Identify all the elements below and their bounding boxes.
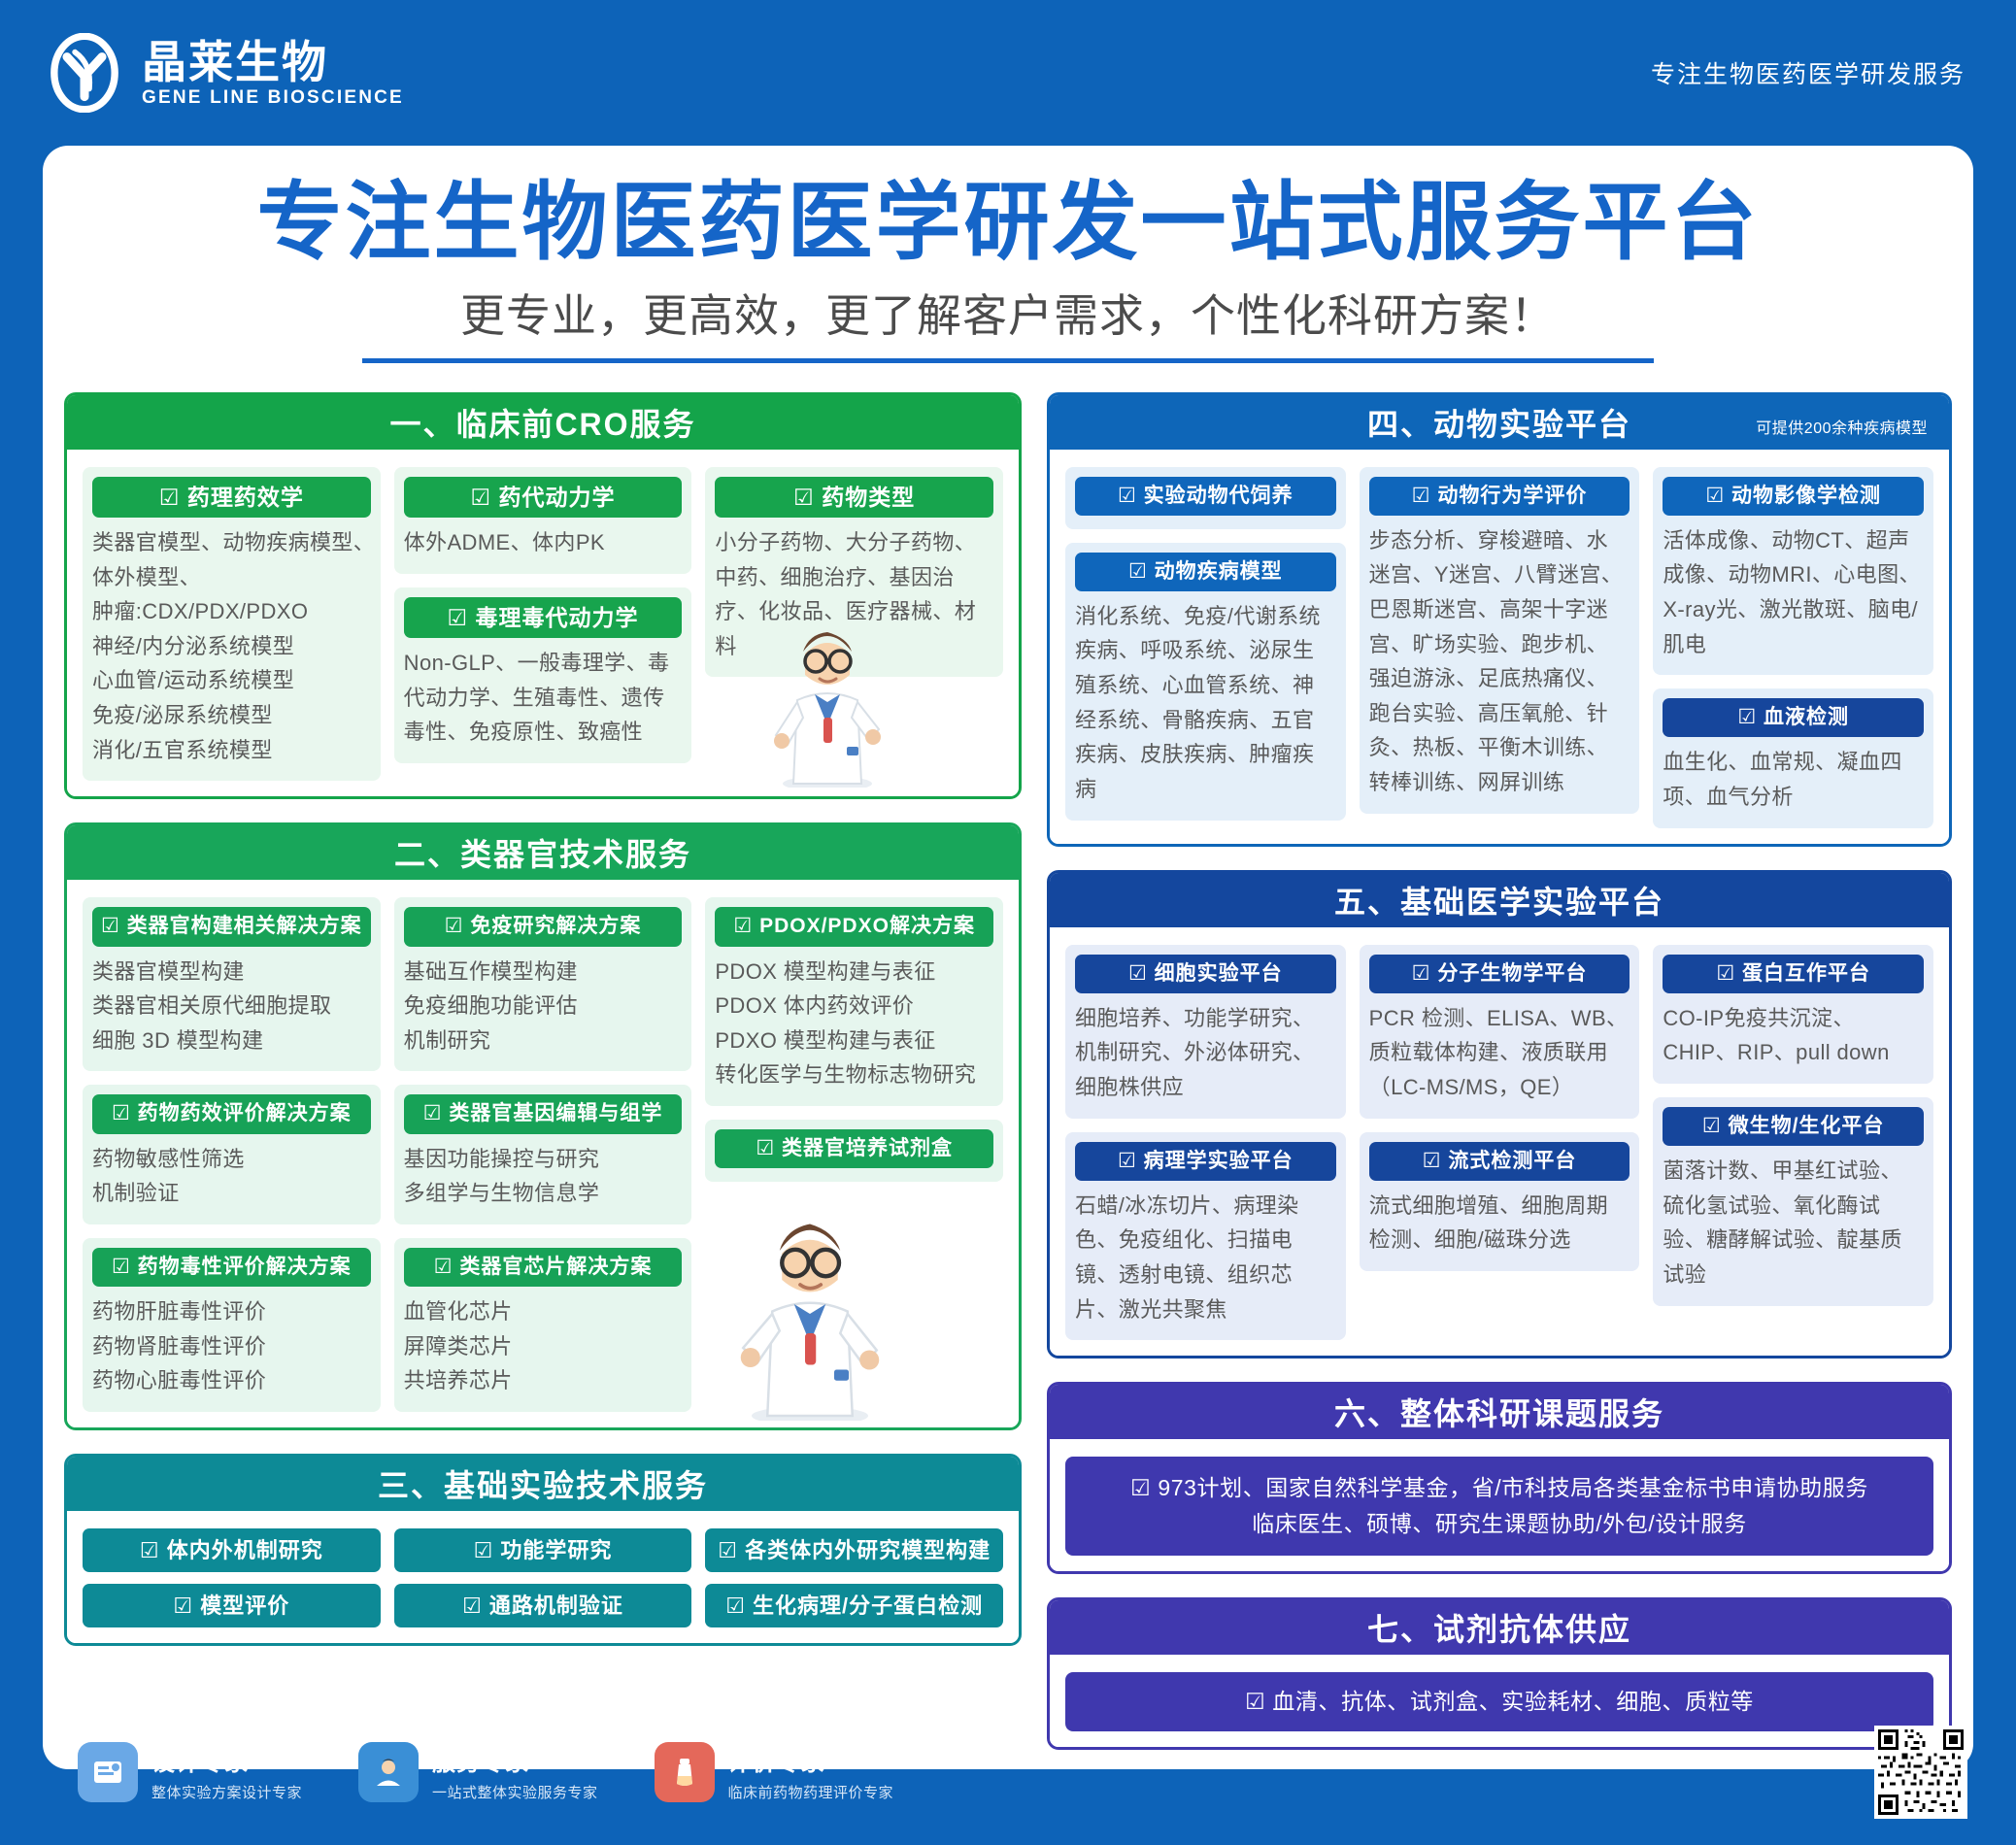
card-molecular-platform-pill: ☑ 分子生物学平台 — [1369, 955, 1630, 993]
card-pathology-platform-pill: ☑ 病理学实验平台 — [1075, 1142, 1336, 1181]
card-cell-platform-text: 细胞培养、功能学研究、机制研究、外泌体研究、细胞株供应 — [1075, 1001, 1336, 1105]
card-blood-test-pill: ☑ 血液检测 — [1663, 698, 1924, 737]
card-pharmacology[interactable]: ☑ 药理药效学 类器官模型、动物疾病模型、 体外模型、 肿瘤:CDX/PDX/P… — [83, 467, 381, 782]
card-protein-interaction-platform[interactable]: ☑ 蛋白互作平台 CO-IP免疫共沉淀、CHIP、RIP、pull down — [1653, 945, 1933, 1084]
section-4-body: ☑ 实验动物代饲养 ☑ 动物疾病模型 消化系统、免疫/代谢系统疾病、呼吸系统、泌… — [1050, 450, 1949, 844]
brand-name-cn: 晶莱生物 — [142, 40, 404, 84]
section-2-title: 二、类器官技术服务 — [394, 830, 691, 875]
card-toxicokinetics-pill: ☑ 毒理毒代动力学 — [404, 597, 683, 638]
evaluation-expert-icon — [655, 1742, 715, 1802]
card-pharmacokinetics-pill: ☑ 药代动力学 — [404, 477, 683, 518]
card-cell-platform[interactable]: ☑ 细胞实验平台 细胞培养、功能学研究、机制研究、外泌体研究、细胞株供应 — [1065, 945, 1346, 1119]
pill-functional-research[interactable]: ☑ 功能学研究 — [394, 1528, 692, 1572]
card-molecular-platform-text: PCR 检测、ELISA、WB、质粒载体构建、液质联用（LC-MS/MS，QE） — [1369, 1001, 1630, 1105]
card-immunology-solution[interactable]: ☑ 免疫研究解决方案 基础互作模型构建 免疫细胞功能评估 机制研究 — [394, 897, 692, 1071]
card-toxicity-evaluation-lines: 药物肝脏毒性评价 药物肾脏毒性评价 药物心脏毒性评价 — [92, 1294, 371, 1398]
expert-list: 设计专家 整体实验方案设计专家 服务专家 一站式整体实验服务专家 — [78, 1742, 893, 1802]
section-1-header: 一、临床前CRO服务 — [67, 395, 1019, 450]
service-expert-icon — [358, 1742, 419, 1802]
card-drug-types-text: 小分子药物、大分子药物、中药、细胞治疗、基因治疗、化妆品、医疗器械、材料 — [715, 525, 993, 664]
section-3-header: 三、基础实验技术服务 — [67, 1457, 1019, 1511]
card-pathology-platform[interactable]: ☑ 病理学实验平台 石蜡/冰冻切片、病理染色、免疫组化、扫描电镜、透射电镜、组织… — [1065, 1132, 1346, 1341]
card-drug-types-pill: ☑ 药物类型 — [715, 477, 993, 518]
card-efficacy-evaluation-lines: 药物敏感性筛选 机制验证 — [92, 1142, 371, 1211]
card-animal-housing[interactable]: ☑ 实验动物代饲养 — [1065, 467, 1346, 529]
section-5-title: 五、基础医学实验平台 — [1334, 878, 1664, 922]
section-2-header: 二、类器官技术服务 — [67, 825, 1019, 880]
section-2-body: ☑ 类器官构建相关解决方案 类器官模型构建 类器官相关原代细胞提取 细胞 3D … — [67, 880, 1019, 1426]
content-columns: 一、临床前CRO服务 ☑ 药理药效学 类器官模型、动物疾病模型、 体外模型、 — [43, 363, 1973, 1750]
card-organ-chip-pill: ☑ 类器官芯片解决方案 — [404, 1248, 683, 1287]
qr-code-icon[interactable] — [1874, 1726, 1967, 1819]
card-toxicokinetics-text: Non-GLP、一般毒理学、毒代动力学、生殖毒性、遗传毒性、免疫原性、致癌性 — [404, 646, 683, 750]
card-organoid-construction-lines: 类器官模型构建 类器官相关原代细胞提取 细胞 3D 模型构建 — [92, 955, 371, 1058]
card-animal-disease-model-text: 消化系统、免疫/代谢系统疾病、呼吸系统、泌尿生殖系统、心血管系统、神经系统、骨骼… — [1075, 599, 1336, 807]
card-animal-housing-pill: ☑ 实验动物代饲养 — [1075, 477, 1336, 516]
section-5-header: 五、基础医学实验平台 — [1050, 873, 1949, 927]
expert-service-title: 服务专家 — [432, 1743, 598, 1777]
card-animal-imaging[interactable]: ☑ 动物影像学检测 活体成像、动物CT、超声成像、动物MRI、心电图、X-ray… — [1653, 467, 1933, 676]
card-pdox-pdxo-pill: ☑ PDOX/PDXO解决方案 — [715, 907, 993, 946]
section-6-header: 六、整体科研课题服务 — [1050, 1385, 1949, 1439]
card-pharmacology-pill: ☑ 药理药效学 — [92, 477, 371, 518]
card-pdox-pdxo-lines: PDOX 模型构建与表征 PDOX 体内药效评价 PDXO 模型构建与表征 转化… — [715, 955, 993, 1093]
card-toxicity-evaluation[interactable]: ☑ 药物毒性评价解决方案 药物肝脏毒性评价 药物肾脏毒性评价 药物心脏毒性评价 — [83, 1238, 381, 1412]
card-organoid-construction[interactable]: ☑ 类器官构建相关解决方案 类器官模型构建 类器官相关原代细胞提取 细胞 3D … — [83, 897, 381, 1071]
section-7-title: 七、试剂抗体供应 — [1367, 1605, 1631, 1650]
card-pharmacology-lines: 类器官模型、动物疾病模型、 体外模型、 肿瘤:CDX/PDX/PDXO 神经/内… — [92, 525, 371, 767]
card-animal-behavior-text: 步态分析、穿梭避暗、水迷宫、Y迷宫、八臂迷宫、巴恩斯迷宫、高架十字迷宫、旷场实验… — [1369, 523, 1630, 800]
card-blood-test[interactable]: ☑ 血液检测 血生化、血常规、凝血四项、血气分析 — [1653, 688, 1933, 827]
section-research-project: 六、整体科研课题服务 ☑ 973计划、国家自然科学基金，省/市科技局各类基金标书… — [1047, 1382, 1952, 1574]
card-pharmacokinetics-text: 体外ADME、体内PK — [404, 525, 683, 560]
card-animal-imaging-text: 活体成像、动物CT、超声成像、动物MRI、心电图、X-ray光、激光散斑、脑电/… — [1663, 523, 1924, 662]
subtitle-wrap: 更专业，更高效，更了解客户需求，个性化科研方案！ — [362, 281, 1654, 363]
card-organoid-kit-pill: ☑ 类器官培养试剂盒 — [715, 1129, 993, 1168]
section-3-title: 三、基础实验技术服务 — [378, 1461, 708, 1506]
poster-root: 晶莱生物 GENE LINE BIOSCIENCE 专注生物医药医学研发服务 专… — [0, 0, 2016, 1845]
pill-model-construction[interactable]: ☑ 各类体内外研究模型构建 — [705, 1528, 1003, 1572]
pill-mechanism-research[interactable]: ☑ 体内外机制研究 — [83, 1528, 381, 1572]
section-preclinical-cro: 一、临床前CRO服务 ☑ 药理药效学 类器官模型、动物疾病模型、 体外模型、 — [64, 392, 1022, 800]
card-molecular-platform[interactable]: ☑ 分子生物学平台 PCR 检测、ELISA、WB、质粒载体构建、液质联用（LC… — [1360, 945, 1640, 1119]
section-4-note: 可提供200余种疾病模型 — [1756, 415, 1928, 438]
section-4-title: 四、动物实验平台 — [1367, 400, 1631, 445]
footer-bar: 设计专家 整体实验方案设计专家 服务专家 一站式整体实验服务专家 — [0, 1699, 2016, 1845]
card-toxicokinetics[interactable]: ☑ 毒理毒代动力学 Non-GLP、一般毒理学、毒代动力学、生殖毒性、遗传毒性、… — [394, 587, 692, 763]
expert-service-sub: 一站式整体实验服务专家 — [432, 1782, 598, 1802]
card-organoid-kit[interactable]: ☑ 类器官培养试剂盒 — [705, 1120, 1003, 1182]
card-gene-editing-omics-pill: ☑ 类器官基因编辑与组学 — [404, 1094, 683, 1133]
card-pdox-pdxo[interactable]: ☑ PDOX/PDXO解决方案 PDOX 模型构建与表征 PDOX 体内药效评价… — [705, 897, 1003, 1106]
card-gene-editing-omics-lines: 基因功能操控与研究 多组学与生物信息学 — [404, 1142, 683, 1211]
card-pathology-platform-text: 石蜡/冰冻切片、病理染色、免疫组化、扫描电镜、透射电镜、组织芯片、激光共聚焦 — [1075, 1189, 1336, 1327]
section-4-header: 四、动物实验平台 可提供200余种疾病模型 — [1050, 395, 1949, 450]
card-gene-editing-omics[interactable]: ☑ 类器官基因编辑与组学 基因功能操控与研究 多组学与生物信息学 — [394, 1085, 692, 1224]
section-6-body: ☑ 973计划、国家自然科学基金，省/市科技局各类基金标书申请协助服务 临床医生… — [1050, 1439, 1949, 1571]
expert-evaluation-title: 评价专家 — [728, 1743, 894, 1777]
section-organoid-tech: 二、类器官技术服务 ☑ 类器官构建相关解决方案 类器官模型构建 类器官相关原代细… — [64, 822, 1022, 1429]
expert-item-evaluation: 评价专家 临床前药物药理评价专家 — [655, 1742, 894, 1802]
card-organoid-construction-pill: ☑ 类器官构建相关解决方案 — [92, 907, 371, 946]
card-animal-disease-model[interactable]: ☑ 动物疾病模型 消化系统、免疫/代谢系统疾病、呼吸系统、泌尿生殖系统、心血管系… — [1065, 543, 1346, 821]
expert-design-sub: 整体实验方案设计专家 — [151, 1782, 302, 1802]
card-animal-disease-model-pill: ☑ 动物疾病模型 — [1075, 553, 1336, 591]
card-flow-cytometry-platform-pill: ☑ 流式检测平台 — [1369, 1142, 1630, 1181]
section-1-body: ☑ 药理药效学 类器官模型、动物疾病模型、 体外模型、 肿瘤:CDX/PDX/P… — [67, 450, 1019, 797]
pill-model-evaluation[interactable]: ☑ 模型评价 — [83, 1584, 381, 1627]
card-toxicity-evaluation-pill: ☑ 药物毒性评价解决方案 — [92, 1248, 371, 1287]
design-expert-icon — [78, 1742, 138, 1802]
card-animal-behavior[interactable]: ☑ 动物行为学评价 步态分析、穿梭避暗、水迷宫、Y迷宫、八臂迷宫、巴恩斯迷宫、高… — [1360, 467, 1640, 814]
section-3-body: ☑ 体内外机制研究 ☑ 模型评价 ☑ 功能学研究 ☑ 通路机制验证 ☑ 各类体内… — [67, 1511, 1019, 1644]
card-flow-cytometry-platform-text: 流式细胞增殖、细胞周期检测、细胞/磁珠分选 — [1369, 1189, 1630, 1258]
page-title: 专注生物医药医学研发一站式服务平台 — [43, 175, 1973, 271]
top-bar: 晶莱生物 GENE LINE BIOSCIENCE 专注生物医药医学研发服务 — [0, 0, 2016, 146]
main-card: 专注生物医药医学研发一站式服务平台 更专业，更高效，更了解客户需求，个性化科研方… — [43, 146, 1973, 1769]
card-cell-platform-pill: ☑ 细胞实验平台 — [1075, 955, 1336, 993]
card-immunology-solution-pill: ☑ 免疫研究解决方案 — [404, 907, 683, 946]
card-microbiology-platform-pill: ☑ 微生物/生化平台 — [1663, 1107, 1924, 1146]
expert-evaluation-sub: 临床前药物药理评价专家 — [728, 1782, 894, 1802]
section-5-body: ☑ 细胞实验平台 细胞培养、功能学研究、机制研究、外泌体研究、细胞株供应 ☑ 病… — [1050, 927, 1949, 1357]
brand-name-en: GENE LINE BIOSCIENCE — [142, 88, 404, 107]
pill-biochem-pathology[interactable]: ☑ 生化病理/分子蛋白检测 — [705, 1584, 1003, 1627]
left-column: 一、临床前CRO服务 ☑ 药理药效学 类器官模型、动物疾病模型、 体外模型、 — [64, 392, 1022, 1750]
card-flow-cytometry-platform[interactable]: ☑ 流式检测平台 流式细胞增殖、细胞周期检测、细胞/磁珠分选 — [1360, 1132, 1640, 1271]
card-efficacy-evaluation-pill: ☑ 药物药效评价解决方案 — [92, 1094, 371, 1133]
section-basic-experiment: 三、基础实验技术服务 ☑ 体内外机制研究 ☑ 模型评价 ☑ 功能学研究 ☑ 通路… — [64, 1454, 1022, 1647]
card-protein-interaction-platform-pill: ☑ 蛋白互作平台 — [1663, 955, 1924, 993]
card-pharmacokinetics[interactable]: ☑ 药代动力学 体外ADME、体内PK — [394, 467, 692, 574]
card-animal-behavior-pill: ☑ 动物行为学评价 — [1369, 477, 1630, 516]
section-6-line-1: ☑ 973计划、国家自然科学基金，省/市科技局各类基金标书申请协助服务 — [1083, 1470, 1916, 1506]
gene-line-logo-icon — [45, 33, 124, 113]
section-1-title: 一、临床前CRO服务 — [389, 400, 695, 445]
section-7-header: 七、试剂抗体供应 — [1050, 1600, 1949, 1655]
section-6-title: 六、整体科研课题服务 — [1334, 1390, 1664, 1434]
card-blood-test-text: 血生化、血常规、凝血四项、血气分析 — [1663, 745, 1924, 814]
section-basic-medical-platform: 五、基础医学实验平台 ☑ 细胞实验平台 细胞培养、功能学研究、机制研究、外泌体研… — [1047, 870, 1952, 1359]
card-organ-chip-lines: 血管化芯片 屏障类芯片 共培养芯片 — [404, 1294, 683, 1398]
page-subtitle: 更专业，更高效，更了解客户需求，个性化科研方案！ — [362, 281, 1654, 345]
card-drug-types[interactable]: ☑ 药物类型 小分子药物、大分子药物、中药、细胞治疗、基因治疗、化妆品、医疗器械… — [705, 467, 1003, 678]
brand-block: 晶莱生物 GENE LINE BIOSCIENCE — [45, 33, 404, 113]
card-efficacy-evaluation[interactable]: ☑ 药物药效评价解决方案 药物敏感性筛选 机制验证 — [83, 1085, 381, 1224]
right-column: 四、动物实验平台 可提供200余种疾病模型 ☑ 实验动物代饲养 ☑ 动物疾病模型 — [1047, 392, 1952, 1750]
section-6-line-2: 临床医生、硕博、研究生课题协助/外包/设计服务 — [1083, 1506, 1916, 1542]
section-animal-platform: 四、动物实验平台 可提供200余种疾病模型 ☑ 实验动物代饲养 ☑ 动物疾病模型 — [1047, 392, 1952, 847]
expert-item-service: 服务专家 一站式整体实验服务专家 — [358, 1742, 598, 1802]
card-animal-imaging-pill: ☑ 动物影像学检测 — [1663, 477, 1924, 516]
pill-pathway-validation[interactable]: ☑ 通路机制验证 — [394, 1584, 692, 1627]
top-tagline: 专注生物医药医学研发服务 — [1651, 55, 1966, 90]
card-protein-interaction-platform-text: CO-IP免疫共沉淀、CHIP、RIP、pull down — [1663, 1001, 1924, 1070]
card-microbiology-platform[interactable]: ☑ 微生物/生化平台 菌落计数、甲基红试验、硫化氢试验、氧化酶试验、糖酵解试验、… — [1653, 1097, 1933, 1306]
expert-design-title: 设计专家 — [151, 1743, 302, 1777]
card-microbiology-platform-text: 菌落计数、甲基红试验、硫化氢试验、氧化酶试验、糖酵解试验、靛基质试验 — [1663, 1154, 1924, 1292]
section-6-banner[interactable]: ☑ 973计划、国家自然科学基金，省/市科技局各类基金标书申请协助服务 临床医生… — [1065, 1457, 1933, 1556]
card-immunology-solution-lines: 基础互作模型构建 免疫细胞功能评估 机制研究 — [404, 955, 683, 1058]
expert-item-design: 设计专家 整体实验方案设计专家 — [78, 1742, 302, 1802]
card-organ-chip[interactable]: ☑ 类器官芯片解决方案 血管化芯片 屏障类芯片 共培养芯片 — [394, 1238, 692, 1412]
